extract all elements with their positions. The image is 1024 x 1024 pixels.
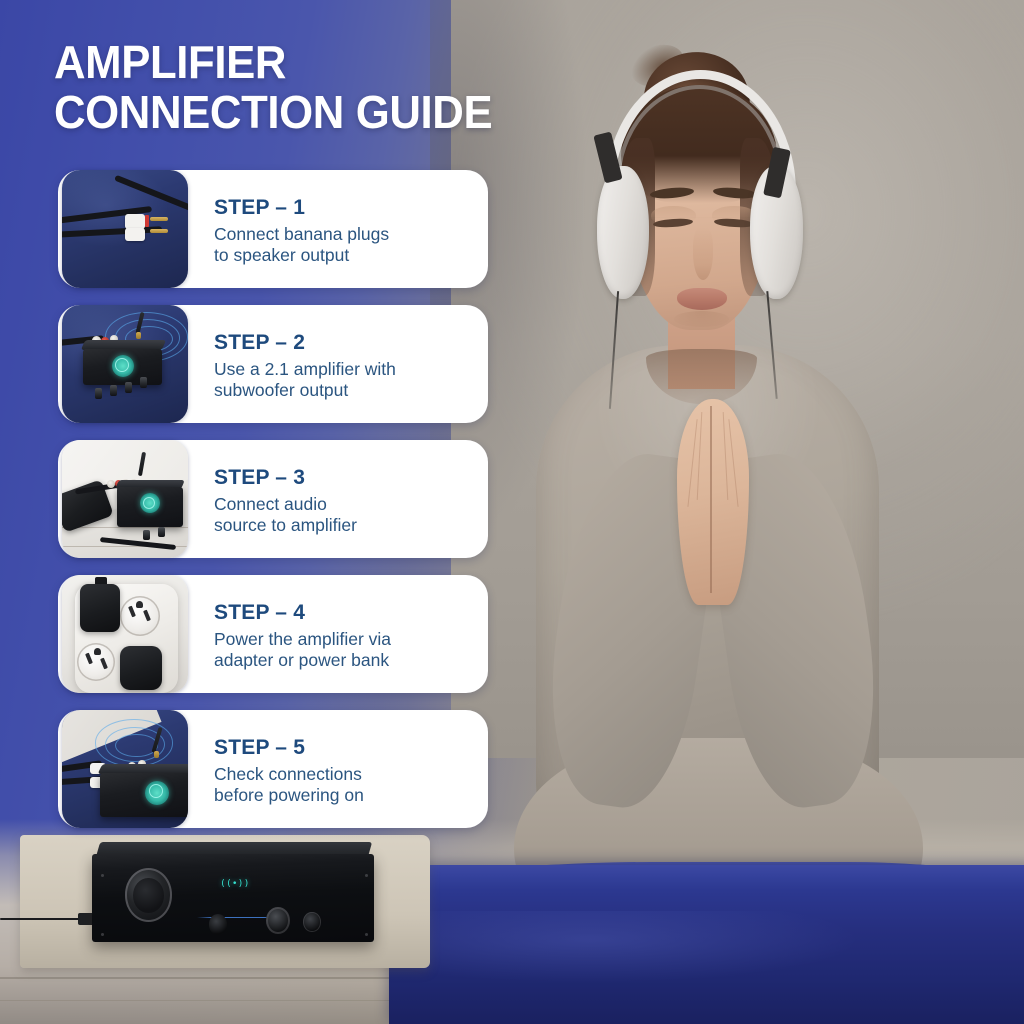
antenna-tip — [136, 332, 141, 339]
step-card-text: STEP – 5 Check connections before poweri… — [188, 710, 488, 828]
amplifier-knob — [125, 382, 132, 393]
poster-canvas: ((•)) AMPLIFIER CONNECTION GUIDE — [0, 0, 1024, 1024]
power-bank — [120, 646, 162, 690]
amplifier-knob — [110, 385, 117, 396]
steps-list: STEP – 1 Connect banana plugs to speaker… — [58, 170, 488, 845]
amplifier-body — [100, 773, 188, 817]
amplifier-connections-photo — [62, 710, 188, 828]
step-description: Connect audio source to amplifier — [214, 494, 472, 536]
amplifier-knob — [140, 377, 147, 388]
step-description: Use a 2.1 amplifier with subwoofer outpu… — [214, 359, 472, 401]
amplifier-port-aux[interactable] — [209, 914, 227, 934]
power-adapter — [80, 584, 120, 632]
step-card-4[interactable]: STEP – 4 Power the amplifier via adapter… — [58, 575, 488, 693]
step-description: Check connections before powering on — [214, 764, 472, 806]
cushion-sheen — [410, 911, 861, 983]
hands-seam — [710, 406, 712, 593]
phone-connected-to-amplifier-photo — [62, 440, 188, 558]
banana-plug-red-marker — [145, 215, 149, 227]
step-card-5[interactable]: STEP – 5 Check connections before poweri… — [58, 710, 488, 828]
banana-plug-housing — [125, 214, 145, 229]
antenna-tip — [154, 751, 159, 758]
step-card-text: STEP – 4 Power the amplifier via adapter… — [188, 575, 488, 693]
power-outlet-adapter-photo — [62, 575, 188, 693]
banana-plug-pin — [150, 229, 168, 233]
step-label: STEP – 4 — [214, 601, 472, 624]
wood-plank-line — [62, 527, 188, 528]
socket-ground-pin — [94, 648, 101, 655]
step-label: STEP – 5 — [214, 736, 472, 759]
banana-plug-housing — [125, 228, 145, 241]
amplifier-screw — [365, 874, 368, 877]
step-label: STEP – 2 — [214, 331, 472, 354]
step-label: STEP – 3 — [214, 466, 472, 489]
socket-ground-pin — [136, 601, 143, 608]
step-card-3[interactable]: STEP – 3 Connect audio source to amplifi… — [58, 440, 488, 558]
amplifier-screw — [365, 933, 368, 936]
amplifier-display: ((•)) — [220, 880, 257, 895]
step-card-text: STEP – 1 Connect banana plugs to speaker… — [188, 170, 488, 288]
amplifier-port-mic[interactable] — [303, 912, 320, 931]
step-label: STEP – 1 — [214, 196, 472, 219]
banana-plug-pin — [150, 217, 168, 221]
headphone-earcup-left — [597, 166, 650, 299]
step-card-2[interactable]: STEP – 2 Use a 2.1 amplifier with subwoo… — [58, 305, 488, 423]
step-card-1[interactable]: STEP – 1 Connect banana plugs to speaker… — [58, 170, 488, 288]
banana-plugs-photo — [62, 170, 188, 288]
step-description: Connect banana plugs to speaker output — [214, 224, 472, 266]
amplifier-on-velvet-photo — [62, 305, 188, 423]
amplifier-volume-knob-center[interactable] — [133, 878, 164, 914]
brand-logo-ring — [143, 497, 155, 509]
wave-graphic — [115, 734, 158, 758]
amplifier-knob — [95, 388, 102, 399]
amplifier-knob — [158, 527, 165, 537]
amplifier-knob — [143, 530, 150, 540]
amplifier-port-headphone[interactable] — [266, 907, 290, 934]
step-description: Power the amplifier via adapter or power… — [214, 629, 472, 671]
step-card-text: STEP – 3 Connect audio source to amplifi… — [188, 440, 488, 558]
nose — [693, 227, 713, 280]
page-title: AMPLIFIER CONNECTION GUIDE — [54, 38, 492, 137]
meditating-woman-photo — [492, 20, 1024, 1003]
brand-logo-ring — [115, 358, 129, 372]
step-card-text: STEP – 2 Use a 2.1 amplifier with subwoo… — [188, 305, 488, 423]
